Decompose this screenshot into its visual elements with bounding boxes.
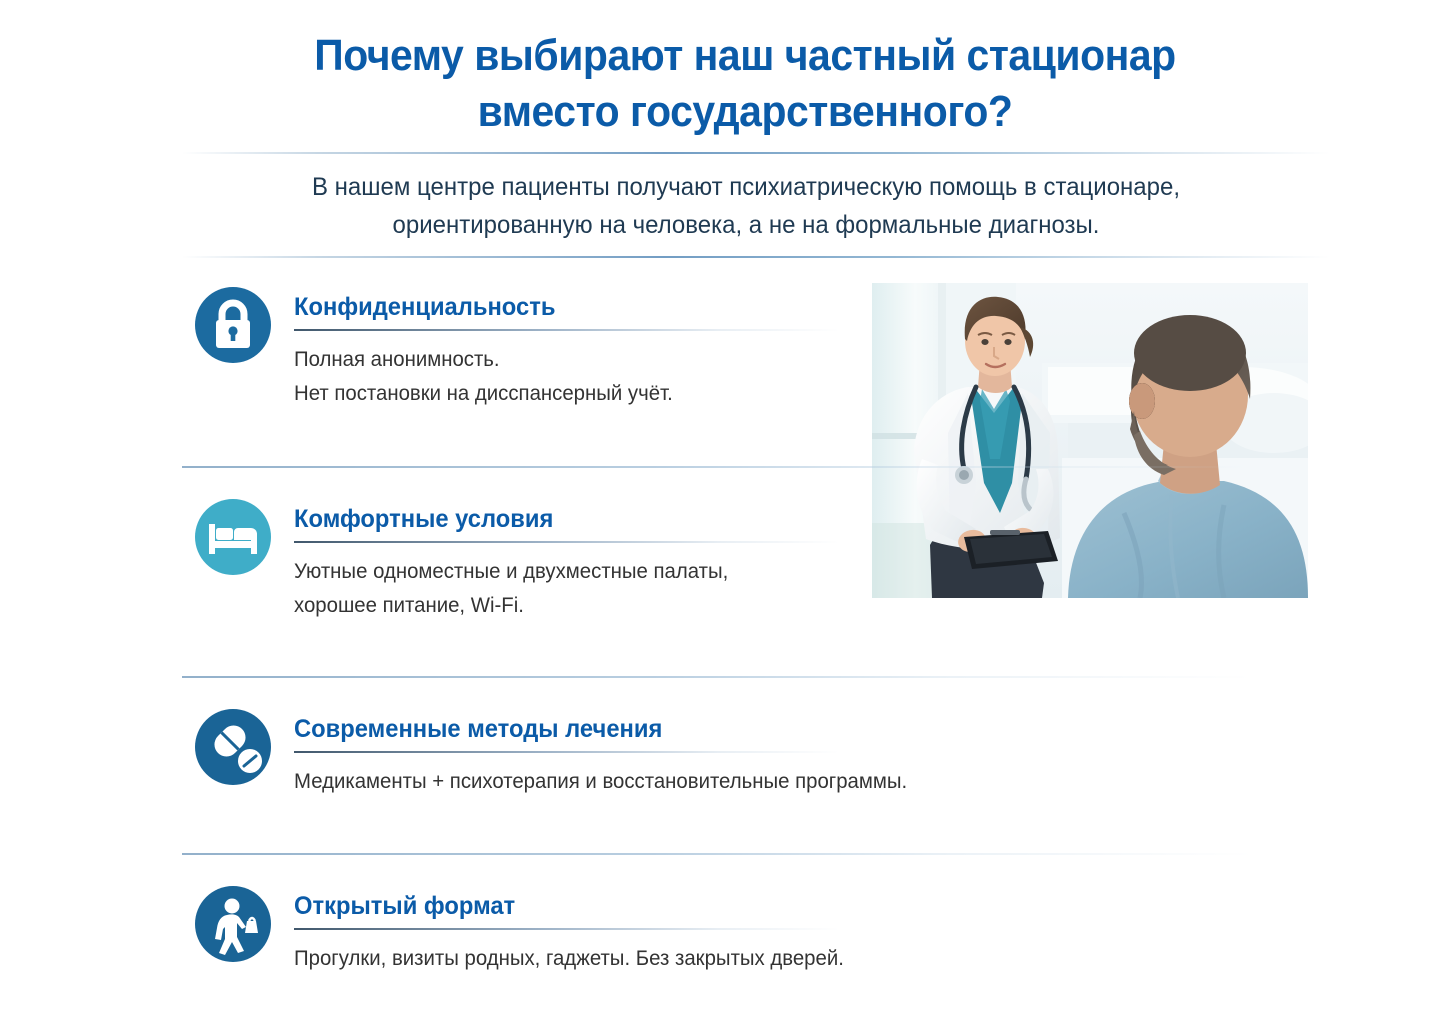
feature-body-line-2: Нет постановки на дисспансерный учёт. [294,377,864,411]
bed-icon [194,498,272,576]
walking-person-icon [194,885,272,963]
slide-root: Почему выбирают наш частный стационар вм… [0,0,1456,1024]
feature-heading-underline [294,928,839,930]
feature-item-open-format[interactable]: Открытый формат Прогулки, визиты родных,… [182,877,882,997]
feature-body-line-1: Прогулки, визиты родных, гаджеты. Без за… [294,942,864,976]
feature-heading: Конфиденциальность [294,278,853,322]
spacer [182,855,882,877]
spacer [182,438,882,466]
divider-under-title [182,152,1330,154]
photo-illustration [872,283,1308,598]
feature-body: Полная анонимность. Нет постановки на ди… [294,343,864,411]
lock-icon [194,286,272,364]
feature-body: Прогулки, визиты родных, гаджеты. Без за… [294,942,864,976]
feature-body-line-1: Полная анонимность. [294,343,864,377]
clinic-consultation-photo [872,283,1308,598]
spacer [182,648,882,676]
page-title-line-1: Почему выбирают наш частный стационар [220,28,1271,84]
spacer [182,678,882,700]
spacer [182,825,882,853]
feature-heading: Комфортные условия [294,490,853,534]
feature-body: Медикаменты + психотерапия и восстановит… [294,765,864,799]
feature-heading-underline [294,751,839,753]
pills-icon [194,708,272,786]
page-title-line-2: вместо государственного? [220,84,1271,140]
feature-list: Конфиденциальность Полная анонимность. Н… [182,278,882,997]
feature-heading-underline [294,541,839,543]
feature-item-comfort[interactable]: Комфортные условия Уютные одноместные и … [182,490,882,648]
page-subtitle-line-1: В нашем центре пациенты получают психиат… [218,168,1274,206]
page-subtitle: В нашем центре пациенты получают психиат… [218,168,1274,244]
feature-heading-underline [294,329,839,331]
page-title: Почему выбирают наш частный стационар вм… [180,28,1310,140]
feature-heading: Открытый формат [294,877,853,921]
divider-under-subtitle [182,256,1330,258]
feature-heading: Современные методы лечения [294,700,853,744]
feature-item-confidentiality[interactable]: Конфиденциальность Полная анонимность. Н… [182,278,882,438]
spacer [182,468,882,490]
page-subtitle-line-2: ориентированную на человека, а не на фор… [218,206,1274,244]
feature-item-treatment[interactable]: Современные методы лечения Медикаменты +… [182,700,882,825]
feature-body: Уютные одноместные и двухместные палаты,… [294,555,864,623]
feature-body-line-1: Уютные одноместные и двухместные палаты, [294,555,864,589]
feature-body-line-1: Медикаменты + психотерапия и восстановит… [294,765,864,799]
feature-body-line-2: хорошее питание, Wi-Fi. [294,589,864,623]
